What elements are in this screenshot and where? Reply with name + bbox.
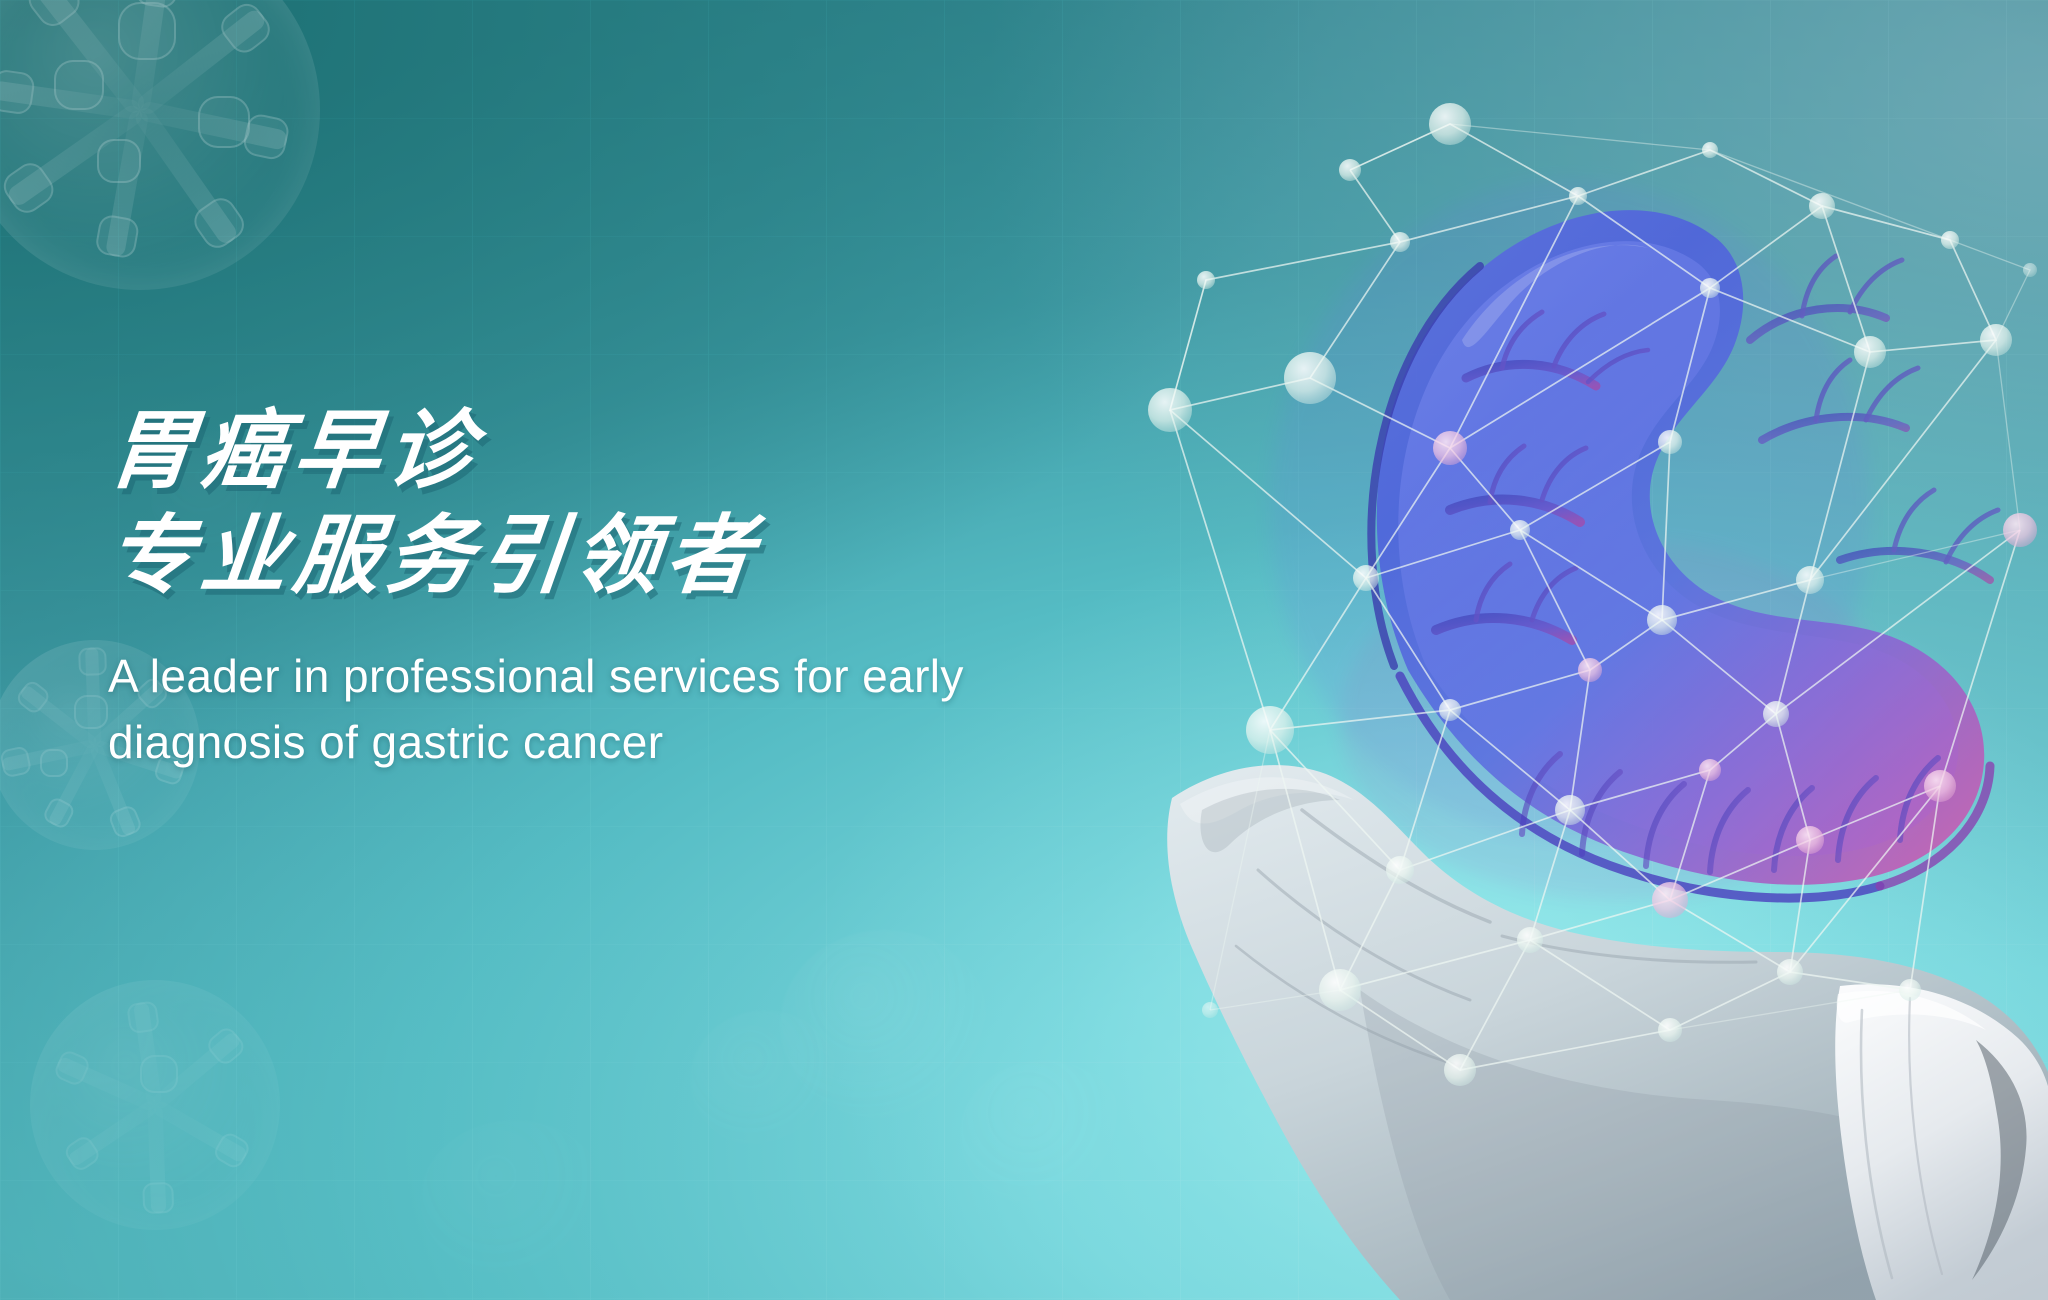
headline-chinese-line-2: 专业服务引领者 [103,511,1193,602]
headline-chinese-line-1: 胃癌早诊 [103,406,1193,497]
subtitle-english: A leader in professional services for ea… [108,644,1118,775]
banner-root: 胃癌早诊 专业服务引领者 A leader in professional se… [0,0,2048,1300]
headline-block: 胃癌早诊 专业服务引领者 A leader in professional se… [108,406,1188,775]
